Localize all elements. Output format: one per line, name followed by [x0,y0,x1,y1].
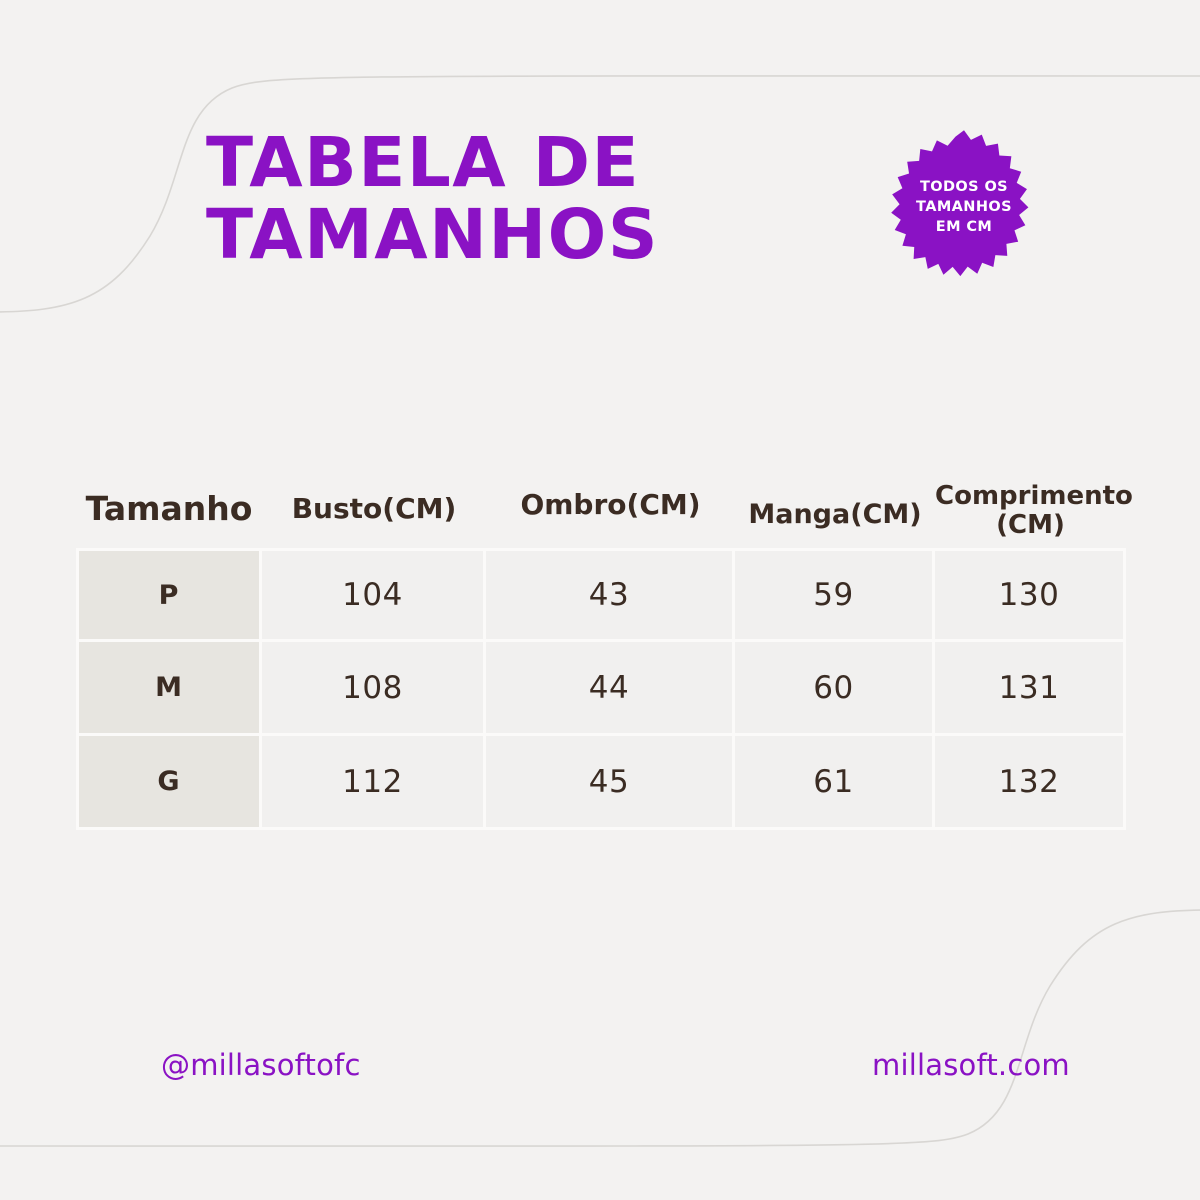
column-header-manga: Manga(CM) [735,500,935,530]
cell-manga: 60 [735,642,935,736]
cell-ombro: 43 [486,548,735,642]
column-header-busto: Busto(CM) [262,493,486,524]
website-url[interactable]: millasoft.com [872,1048,1070,1082]
badge-line-1: TODOS OS [920,178,1008,197]
cell-comprimento: 132 [935,736,1126,830]
table-row: G 112 45 61 132 [76,736,1126,830]
badge-line-2: TAMANHOS [916,198,1012,217]
size-table: Tamanho Busto(CM) Ombro(CM) Manga(CM) Co… [76,470,1126,830]
instagram-handle[interactable]: @millasoftofc [161,1048,361,1082]
cell-ombro: 44 [486,642,735,736]
cell-ombro: 45 [486,736,735,830]
badge-text-block: TODOS OS TAMANHOS EM CM [884,127,1044,287]
cell-manga: 59 [735,548,935,642]
cell-manga: 61 [735,736,935,830]
column-header-comprimento: Comprimento (CM) [935,482,1126,540]
cell-comprimento: 131 [935,642,1126,736]
badge-line-3: EM CM [936,218,992,237]
cell-comprimento: 130 [935,548,1126,642]
cell-busto: 112 [262,736,486,830]
cell-size: M [76,642,262,736]
size-chart-canvas: TABELA DE TAMANHOS TODOS OS TAMANHOS EM … [0,0,1200,1200]
title-line-2: TAMANHOS [206,199,846,271]
cell-busto: 108 [262,642,486,736]
column-header-tamanho: Tamanho [76,491,262,528]
table-body: P 104 43 59 130 M 108 44 60 131 G 112 45… [76,548,1126,830]
page-title: TABELA DE TAMANHOS [206,127,846,271]
cell-size: P [76,548,262,642]
cell-busto: 104 [262,548,486,642]
title-line-1: TABELA DE [206,127,846,199]
all-sizes-in-cm-badge: TODOS OS TAMANHOS EM CM [884,127,1044,287]
table-row: M 108 44 60 131 [76,642,1126,736]
table-row: P 104 43 59 130 [76,548,1126,642]
cell-size: G [76,736,262,830]
table-header-row: Tamanho Busto(CM) Ombro(CM) Manga(CM) Co… [76,470,1126,548]
column-header-ombro: Ombro(CM) [486,489,735,520]
